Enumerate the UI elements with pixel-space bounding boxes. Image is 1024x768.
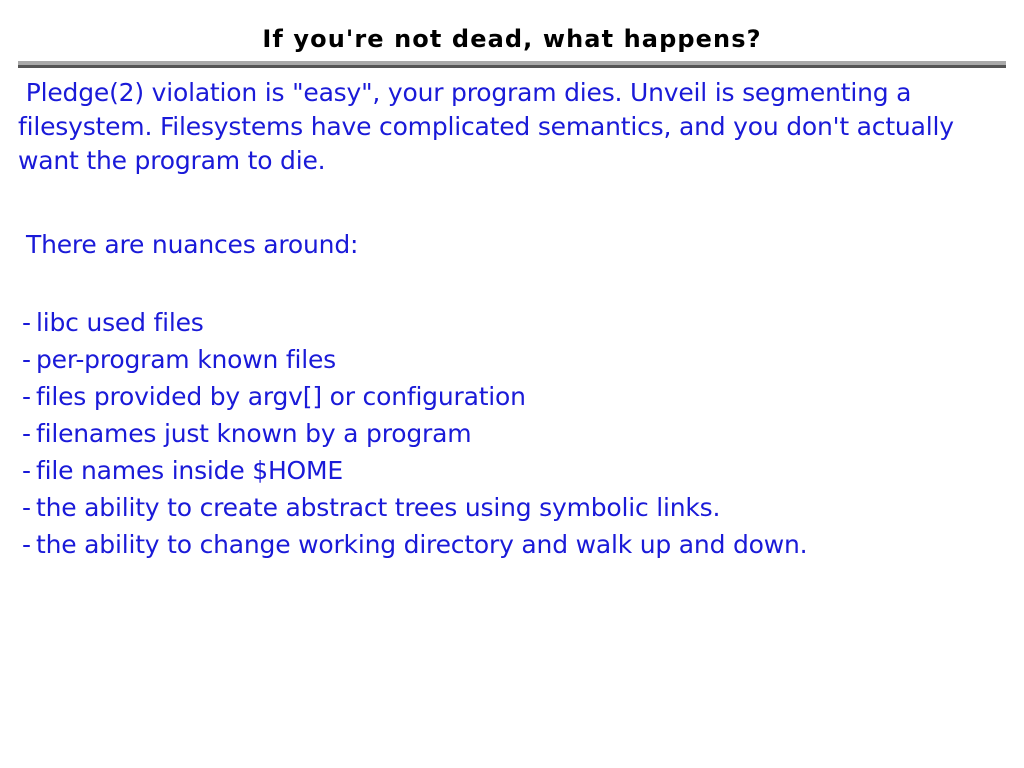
bullet-marker: - [22,378,36,415]
bullet-marker: - [22,489,36,526]
list-item: -libc used files [22,304,1012,341]
list-item-label: per-program known files [36,345,336,374]
bullet-marker: - [22,452,36,489]
list-item: -files provided by argv[] or configurati… [22,378,1012,415]
intro-paragraph: Pledge(2) violation is "easy", your prog… [18,76,998,178]
list-item: -filenames just known by a program [22,415,1012,452]
page-title: If you're not dead, what happens? [0,24,1024,54]
bullet-marker: - [22,526,36,563]
bullet-marker: - [22,415,36,452]
bullet-marker: - [22,304,36,341]
bullet-marker: - [22,341,36,378]
list-item-label: file names inside $HOME [36,456,343,485]
presentation-slide: If you're not dead, what happens? Pledge… [0,0,1024,768]
list-item: -the ability to change working directory… [22,526,1012,563]
list-item-label: the ability to create abstract trees usi… [36,493,720,522]
list-item: -per-program known files [22,341,1012,378]
list-item: -file names inside $HOME [22,452,1012,489]
title-divider [18,61,1006,68]
list-item-label: files provided by argv[] or configuratio… [36,382,526,411]
list-item: -the ability to create abstract trees us… [22,489,1012,526]
nuances-bullet-list: -libc used files -per-program known file… [22,304,1012,563]
list-item-label: filenames just known by a program [36,419,471,448]
nuances-lead-in: There are nuances around: [26,228,358,262]
list-item-label: the ability to change working directory … [36,530,807,559]
list-item-label: libc used files [36,308,204,337]
divider-shadow-band [18,65,1006,68]
